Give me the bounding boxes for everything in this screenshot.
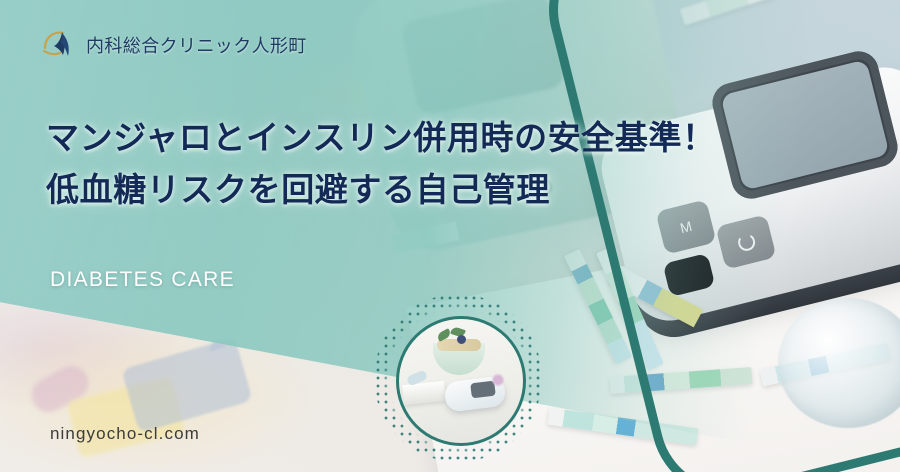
category-label: DIABETES CARE	[50, 268, 235, 292]
circular-photo-badge	[374, 294, 542, 462]
badge-blueberry	[457, 335, 466, 344]
clinic-logo[interactable]: 内科総合クリニック人形町	[42, 28, 307, 62]
badge-photo	[396, 316, 526, 446]
page-title: マンジャロとインスリン併用時の安全基準！ 低血糖リスクを回避する自己管理	[46, 112, 686, 216]
site-url: ningyocho-cl.com	[50, 424, 200, 444]
clinic-name: 内科総合クリニック人形町	[86, 32, 307, 58]
bird-wing-crescent-logo-icon	[42, 28, 78, 62]
blog-hero-banner: M	[0, 0, 900, 472]
badge-flower-decor	[491, 373, 505, 387]
headline-line-2: 低血糖リスクを回避する自己管理	[46, 164, 686, 216]
badge-box	[402, 381, 446, 405]
headline-line-1: マンジャロとインスリン併用時の安全基準！	[46, 112, 686, 164]
blurred-speech-bubble-note	[121, 337, 253, 433]
